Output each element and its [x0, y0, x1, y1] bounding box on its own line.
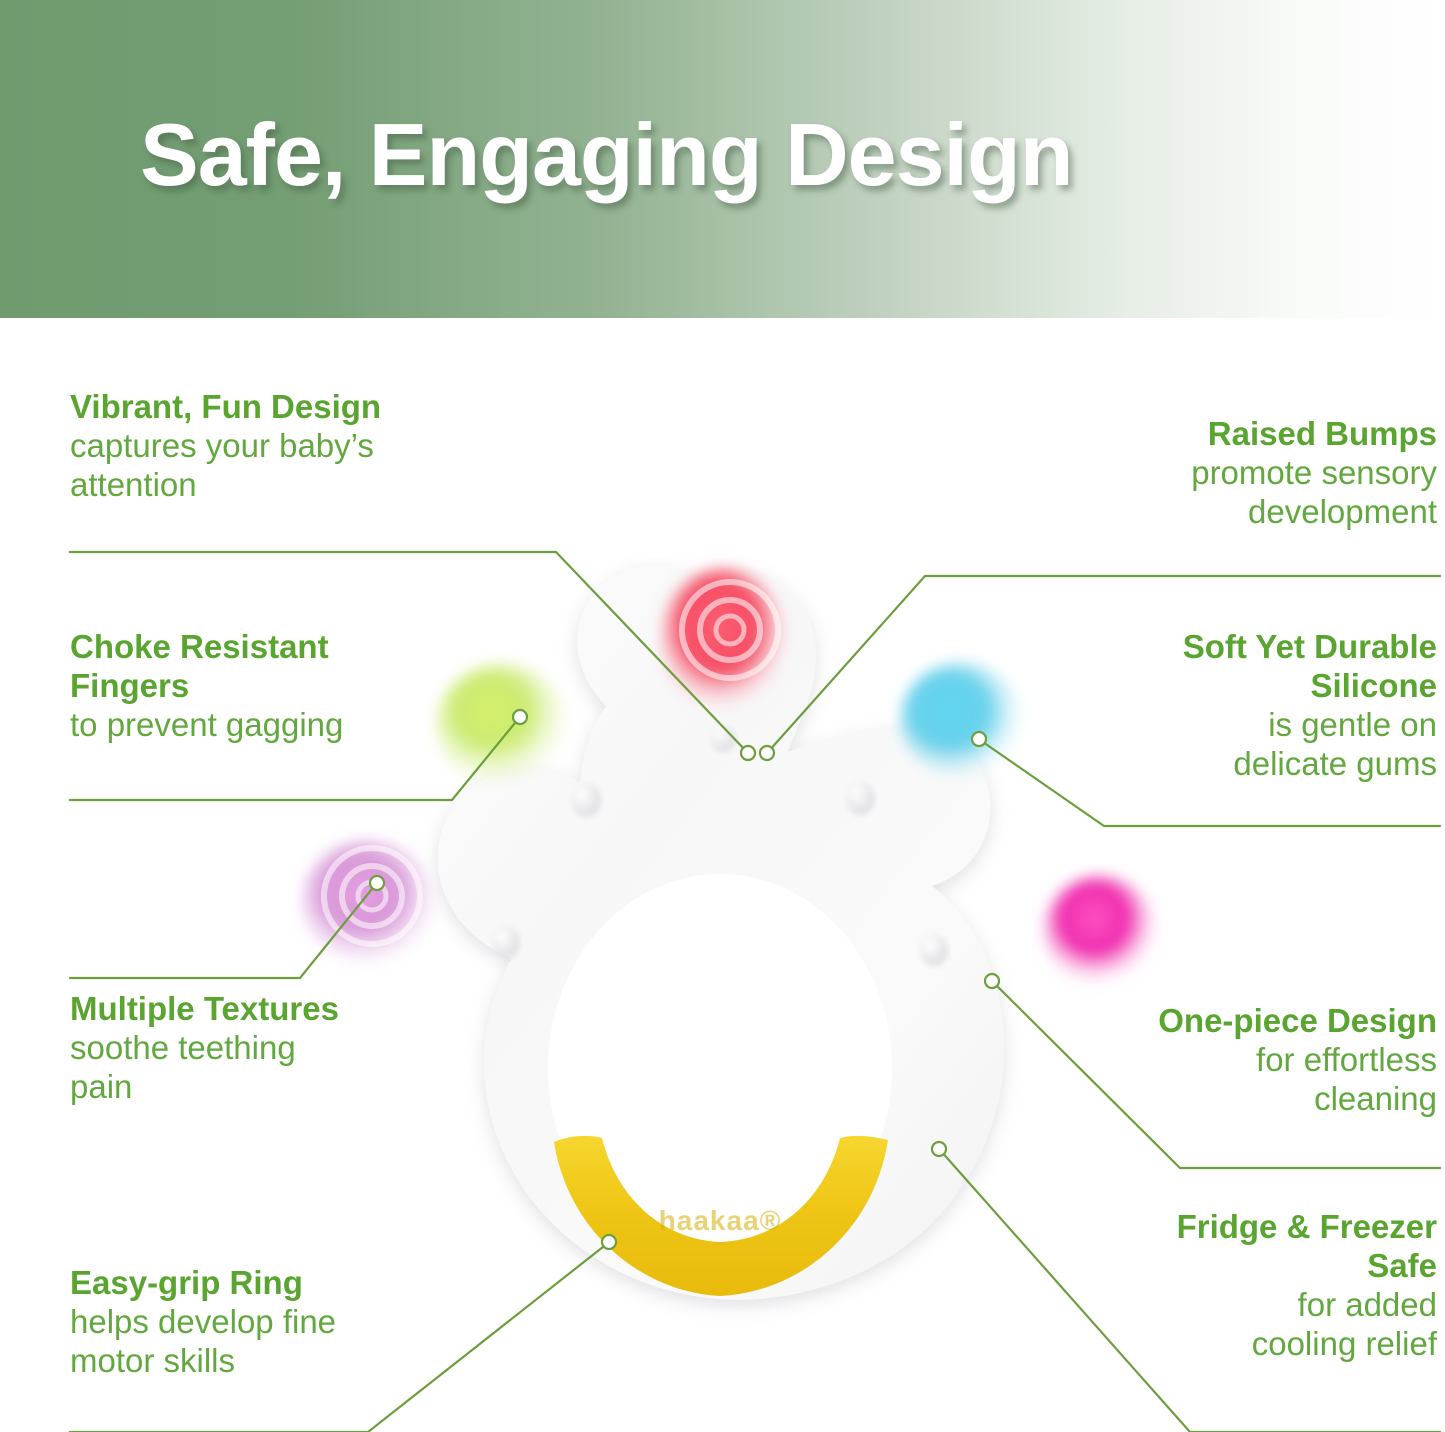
callout-title: Fingers: [70, 667, 343, 706]
callout-vibrant-fun-design: Vibrant, Fun Design captures your baby’s…: [70, 388, 381, 505]
tip-magenta: [1044, 876, 1156, 988]
callout-body-line: pain: [70, 1068, 339, 1107]
callout-title: Vibrant, Fun Design: [70, 388, 381, 427]
callout-title: Multiple Textures: [70, 990, 339, 1029]
callout-one-piece-design: One-piece Design for effortless cleaning: [1158, 1002, 1437, 1119]
callout-body-line: for effortless: [1158, 1041, 1437, 1080]
callout-body-line: soothe teething: [70, 1029, 339, 1068]
callout-title: Easy-grip Ring: [70, 1264, 336, 1303]
callout-body-line: attention: [70, 466, 381, 505]
callout-title: Silicone: [1183, 667, 1437, 706]
callout-easy-grip-ring: Easy-grip Ring helps develop fine motor …: [70, 1264, 336, 1381]
callout-body-line: helps develop fine: [70, 1303, 336, 1342]
page-title: Safe, Engaging Design: [140, 104, 1072, 206]
header-banner: Safe, Engaging Design: [0, 0, 1445, 318]
brand-emboss: haakaa®: [659, 1205, 782, 1236]
callout-body-line: development: [1191, 493, 1437, 532]
callout-body-line: cooling relief: [1177, 1325, 1437, 1364]
callout-soft-yet-durable-silicone: Soft Yet Durable Silicone is gentle on d…: [1183, 628, 1437, 784]
callout-body-line: promote sensory: [1191, 454, 1437, 493]
callout-fridge-freezer-safe: Fridge & Freezer Safe for added cooling …: [1177, 1208, 1437, 1364]
infographic-canvas: Safe, Engaging Design: [0, 0, 1445, 1432]
tip-blue: [900, 662, 1024, 778]
callout-multiple-textures: Multiple Textures soothe teething pain: [70, 990, 339, 1107]
product-image: haakaa®: [268, 530, 1198, 1330]
callout-body-line: is gentle on: [1183, 706, 1437, 745]
callout-title: Fridge & Freezer: [1177, 1208, 1437, 1247]
callout-title: Raised Bumps: [1191, 415, 1437, 454]
callout-title: Safe: [1177, 1247, 1437, 1286]
callout-title: One-piece Design: [1158, 1002, 1437, 1041]
callout-body-line: captures your baby’s: [70, 427, 381, 466]
callout-body-line: delicate gums: [1183, 745, 1437, 784]
callout-raised-bumps: Raised Bumps promote sensory development: [1191, 415, 1437, 532]
callout-body-line: motor skills: [70, 1342, 336, 1381]
callout-body-line: to prevent gagging: [70, 706, 343, 745]
tip-green: [436, 664, 568, 788]
callout-body-line: cleaning: [1158, 1080, 1437, 1119]
callout-title: Choke Resistant: [70, 628, 343, 667]
callout-title: Soft Yet Durable: [1183, 628, 1437, 667]
callout-body-line: for added: [1177, 1286, 1437, 1325]
callout-choke-resistant-fingers: Choke Resistant Fingers to prevent gaggi…: [70, 628, 343, 745]
